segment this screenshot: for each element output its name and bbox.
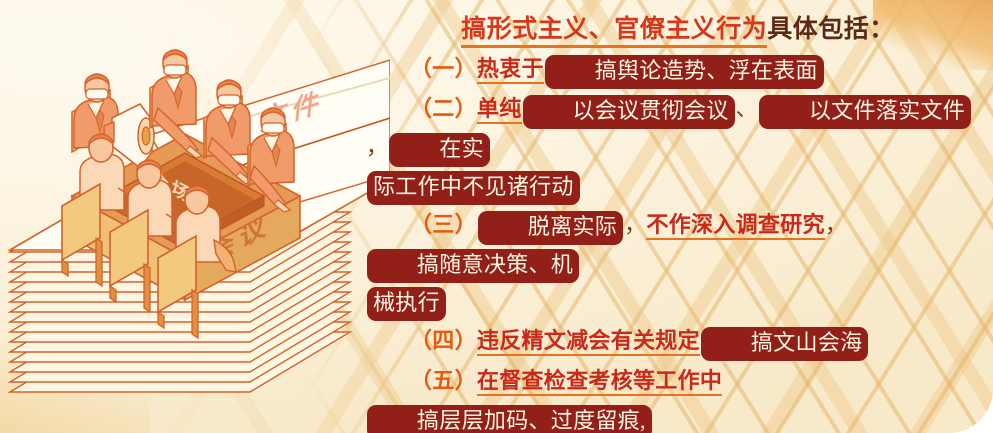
highlight-badge[interactable]: 搞层层加码、过度留痕, bbox=[367, 405, 652, 433]
poster-root: 文件 会场 bbox=[0, 0, 993, 433]
list-item: （四）违反精文减会有关规定搞文山会海 bbox=[366, 322, 990, 360]
title-dark-part: 具体包括： bbox=[767, 16, 895, 43]
title-red-part: 搞形式主义、官僚主义行为 bbox=[461, 16, 767, 48]
item-number: （三） bbox=[410, 212, 477, 237]
highlight-badge[interactable]: 在实 bbox=[389, 133, 490, 167]
item-number: （二） bbox=[410, 96, 477, 121]
highlight-badge[interactable]: 械执行 bbox=[367, 287, 446, 321]
meeting-illustration: 文件 会场 bbox=[0, 0, 390, 433]
underlined-text: 单纯 bbox=[477, 96, 522, 124]
highlight-badge[interactable]: 搞舆论造势、浮在表面 bbox=[545, 55, 824, 89]
item-line: （一）热衷于搞舆论造势、浮在表面 bbox=[366, 50, 990, 88]
punctuation: ， bbox=[366, 134, 388, 159]
highlight-badge[interactable]: 搞文山会海 bbox=[701, 327, 869, 361]
underlined-text: 在督查检查考核等工作中 bbox=[477, 368, 722, 396]
highlight-badge[interactable]: 际工作中不见诸行动 bbox=[367, 171, 580, 205]
highlight-badge[interactable]: 脱离实际 bbox=[478, 211, 623, 245]
punctuation: 、 bbox=[736, 96, 758, 121]
item-line: （三）脱离实际，不作深入调查研究，搞随意决策、机 bbox=[366, 206, 990, 282]
list-item: （一）热衷于搞舆论造势、浮在表面 bbox=[366, 50, 990, 88]
item-line: 械执行 bbox=[366, 282, 990, 320]
items-list: （一）热衷于搞舆论造势、浮在表面（二）单纯以会议贯彻会议、以文件落实文件，在实际… bbox=[366, 50, 990, 433]
list-item: （三）脱离实际，不作深入调查研究，搞随意决策、机械执行 bbox=[366, 206, 990, 320]
underlined-text: 不作深入调查研究 bbox=[646, 212, 824, 240]
item-number: （一） bbox=[410, 56, 477, 81]
underlined-text: 违反精文减会有关规定 bbox=[477, 328, 700, 356]
item-line: 际工作中不见诸行动 bbox=[366, 166, 990, 204]
item-line: （四）违反精文减会有关规定搞文山会海 bbox=[366, 322, 990, 360]
list-item: （五）在督查检查考核等工作中搞层层加码、过度留痕,增加基层工作负担 bbox=[366, 362, 990, 433]
item-number: （四） bbox=[410, 328, 477, 353]
punctuation: ， bbox=[825, 212, 847, 237]
highlight-badge[interactable]: 以文件落实文件 bbox=[759, 95, 971, 129]
punctuation: ， bbox=[624, 212, 646, 237]
item-number: （五） bbox=[410, 368, 477, 393]
item-line: （二）单纯以会议贯彻会议、以文件落实文件，在实 bbox=[366, 90, 990, 166]
highlight-badge[interactable]: 以会议贯彻会议 bbox=[523, 95, 735, 129]
item-line: （五）在督查检查考核等工作中搞层层加码、过度留痕, bbox=[366, 362, 990, 433]
page-title: 搞形式主义、官僚主义行为具体包括： bbox=[366, 12, 990, 48]
text-content: 搞形式主义、官僚主义行为具体包括： （一）热衷于搞舆论造势、浮在表面（二）单纯以… bbox=[366, 12, 990, 433]
list-item: （二）单纯以会议贯彻会议、以文件落实文件，在实际工作中不见诸行动 bbox=[366, 90, 990, 204]
underlined-text: 热衷于 bbox=[477, 56, 544, 84]
highlight-badge[interactable]: 搞随意决策、机 bbox=[367, 249, 579, 283]
